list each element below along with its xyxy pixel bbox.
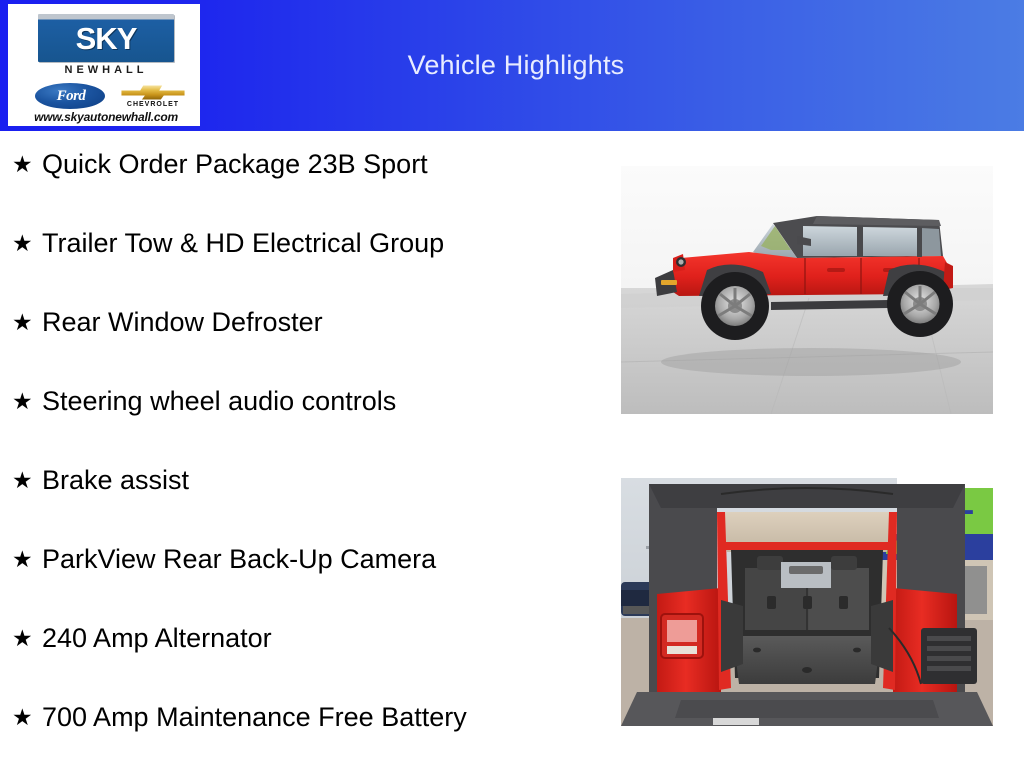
- sky-plate: SKY: [38, 14, 174, 62]
- list-item: ★ 240 Amp Alternator: [0, 619, 600, 698]
- star-icon: ★: [12, 698, 42, 736]
- star-icon: ★: [12, 303, 42, 341]
- ford-wordmark: Ford: [35, 86, 107, 106]
- dealer-website-text: www.skyautonewhall.com: [10, 110, 200, 124]
- cargo-photo-graphic: E L UI IVE: [621, 478, 993, 726]
- feature-label: ParkView Rear Back-Up Camera: [42, 540, 436, 578]
- list-item: ★ 700 Amp Maintenance Free Battery: [0, 698, 600, 777]
- list-item: ★ Brake assist: [0, 461, 600, 540]
- feature-label: Brake assist: [42, 461, 189, 499]
- feature-label: Rear Window Defroster: [42, 303, 323, 341]
- star-icon: ★: [12, 619, 42, 657]
- feature-label: Steering wheel audio controls: [42, 382, 396, 420]
- exterior-photo-graphic: [621, 166, 993, 414]
- star-icon: ★: [12, 461, 42, 499]
- dealer-logo[interactable]: SKY NEWHALL Ford CHEVROLET www.skyau: [8, 4, 200, 126]
- dealer-location-text: NEWHALL: [10, 64, 200, 76]
- list-item: ★ Quick Order Package 23B Sport: [0, 145, 600, 224]
- list-item: ★ Rear Window Defroster: [0, 303, 600, 382]
- chevrolet-logo-icon: CHEVROLET: [118, 82, 188, 112]
- sky-brand-text: SKY: [38, 20, 174, 58]
- feature-label: 700 Amp Maintenance Free Battery: [42, 698, 467, 736]
- feature-label: Quick Order Package 23B Sport: [42, 145, 428, 183]
- vehicle-highlights-list: ★ Quick Order Package 23B Sport ★ Traile…: [0, 145, 600, 777]
- list-item: ★ Steering wheel audio controls: [0, 382, 600, 461]
- star-icon: ★: [12, 224, 42, 262]
- feature-label: Trailer Tow & HD Electrical Group: [42, 224, 444, 262]
- bowtie-icon: [120, 84, 186, 101]
- list-item: ★ Trailer Tow & HD Electrical Group: [0, 224, 600, 303]
- star-icon: ★: [12, 540, 42, 578]
- list-item: ★ ParkView Rear Back-Up Camera: [0, 540, 600, 619]
- chevrolet-wordmark: CHEVROLET: [118, 101, 188, 108]
- vehicle-exterior-photo[interactable]: [621, 166, 993, 414]
- ford-logo-icon: Ford: [34, 82, 106, 110]
- feature-label: 240 Amp Alternator: [42, 619, 272, 657]
- vehicle-cargo-photo[interactable]: E L UI IVE: [621, 478, 993, 726]
- star-icon: ★: [12, 145, 42, 183]
- dealer-logo-inner: SKY NEWHALL Ford CHEVROLET www.skyau: [10, 6, 198, 124]
- star-icon: ★: [12, 382, 42, 420]
